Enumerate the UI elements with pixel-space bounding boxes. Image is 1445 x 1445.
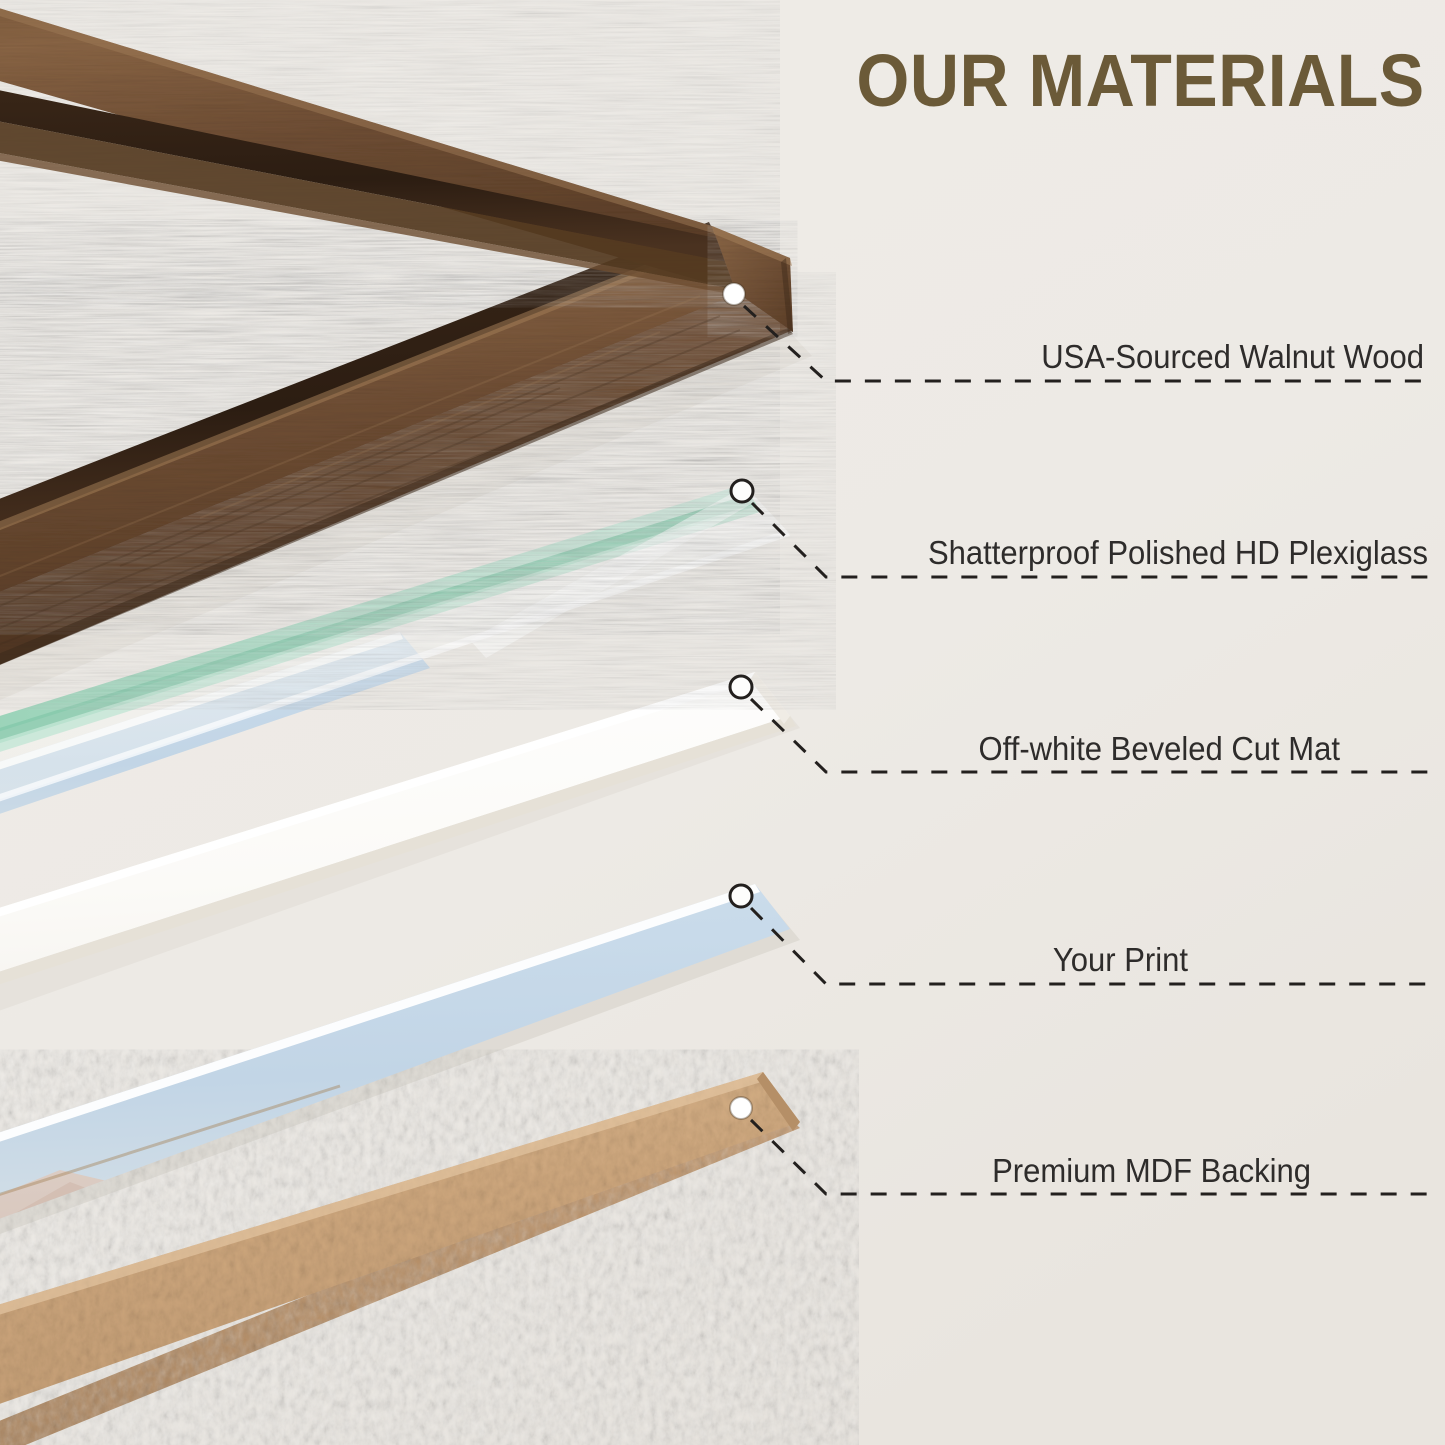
page-title: OUR MATERIALS [857,44,1425,118]
callout-label-mdf-backing: Premium MDF Backing [79,1152,1311,1190]
callout-label-your-print: Your Print [71,941,1188,979]
callout-label-plexiglass: Shatterproof Polished HD Plexiglass [86,534,1428,572]
callout-label-cut-mat: Off-white Beveled Cut Mat [80,730,1340,768]
callout-label-walnut-wood: USA-Sourced Walnut Wood [85,338,1424,376]
product-exploded-view-image [0,0,1445,1445]
materials-infographic: OUR MATERIALS USA-Sourced Walnut Wood Sh… [0,0,1445,1445]
